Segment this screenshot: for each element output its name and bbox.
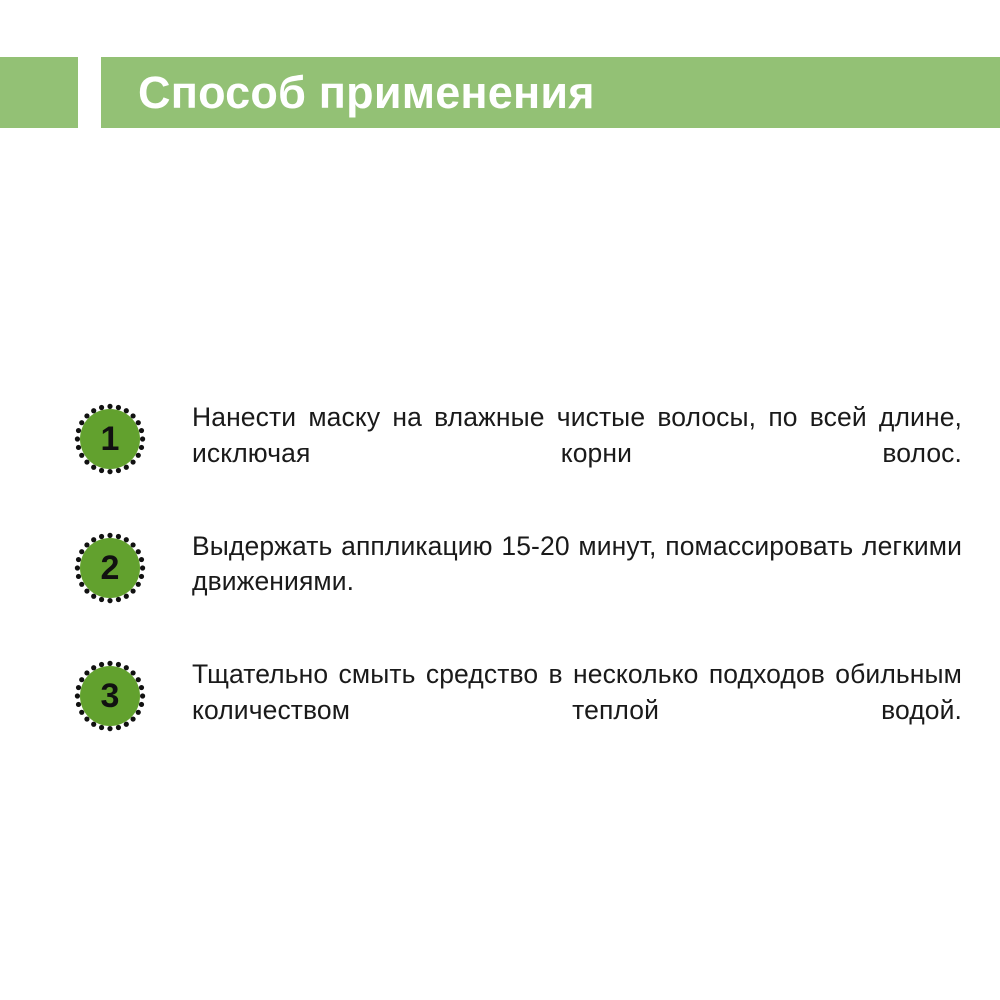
header-title-bar: Способ применения — [101, 57, 1000, 128]
step-number: 3 — [74, 660, 146, 732]
step-description: Тщательно смыть средство в несколько под… — [192, 657, 962, 764]
step-number: 2 — [74, 532, 146, 604]
step-item: 3 Тщательно смыть средство в несколько п… — [0, 657, 1000, 764]
step-number: 1 — [74, 403, 146, 475]
steps-list: 1 Нанести маску на влажные чистые волосы… — [0, 400, 1000, 786]
page-canvas: Способ применения — [0, 0, 1000, 1000]
page-title: Способ применения — [138, 70, 595, 115]
step-description: Выдержать аппликацию 15-20 минут, помасс… — [192, 529, 962, 636]
step-item: 2 Выдержать аппликацию 15-20 минут, пома… — [0, 529, 1000, 636]
header-accent-block — [0, 57, 78, 128]
step-badge-2: 2 — [74, 532, 146, 604]
step-description: Нанести маску на влажные чистые волосы, … — [192, 400, 962, 507]
header-band: Способ применения — [0, 57, 1000, 128]
step-badge-3: 3 — [74, 660, 146, 732]
step-item: 1 Нанести маску на влажные чистые волосы… — [0, 400, 1000, 507]
header-gap-divider — [78, 57, 101, 128]
step-badge-1: 1 — [74, 403, 146, 475]
